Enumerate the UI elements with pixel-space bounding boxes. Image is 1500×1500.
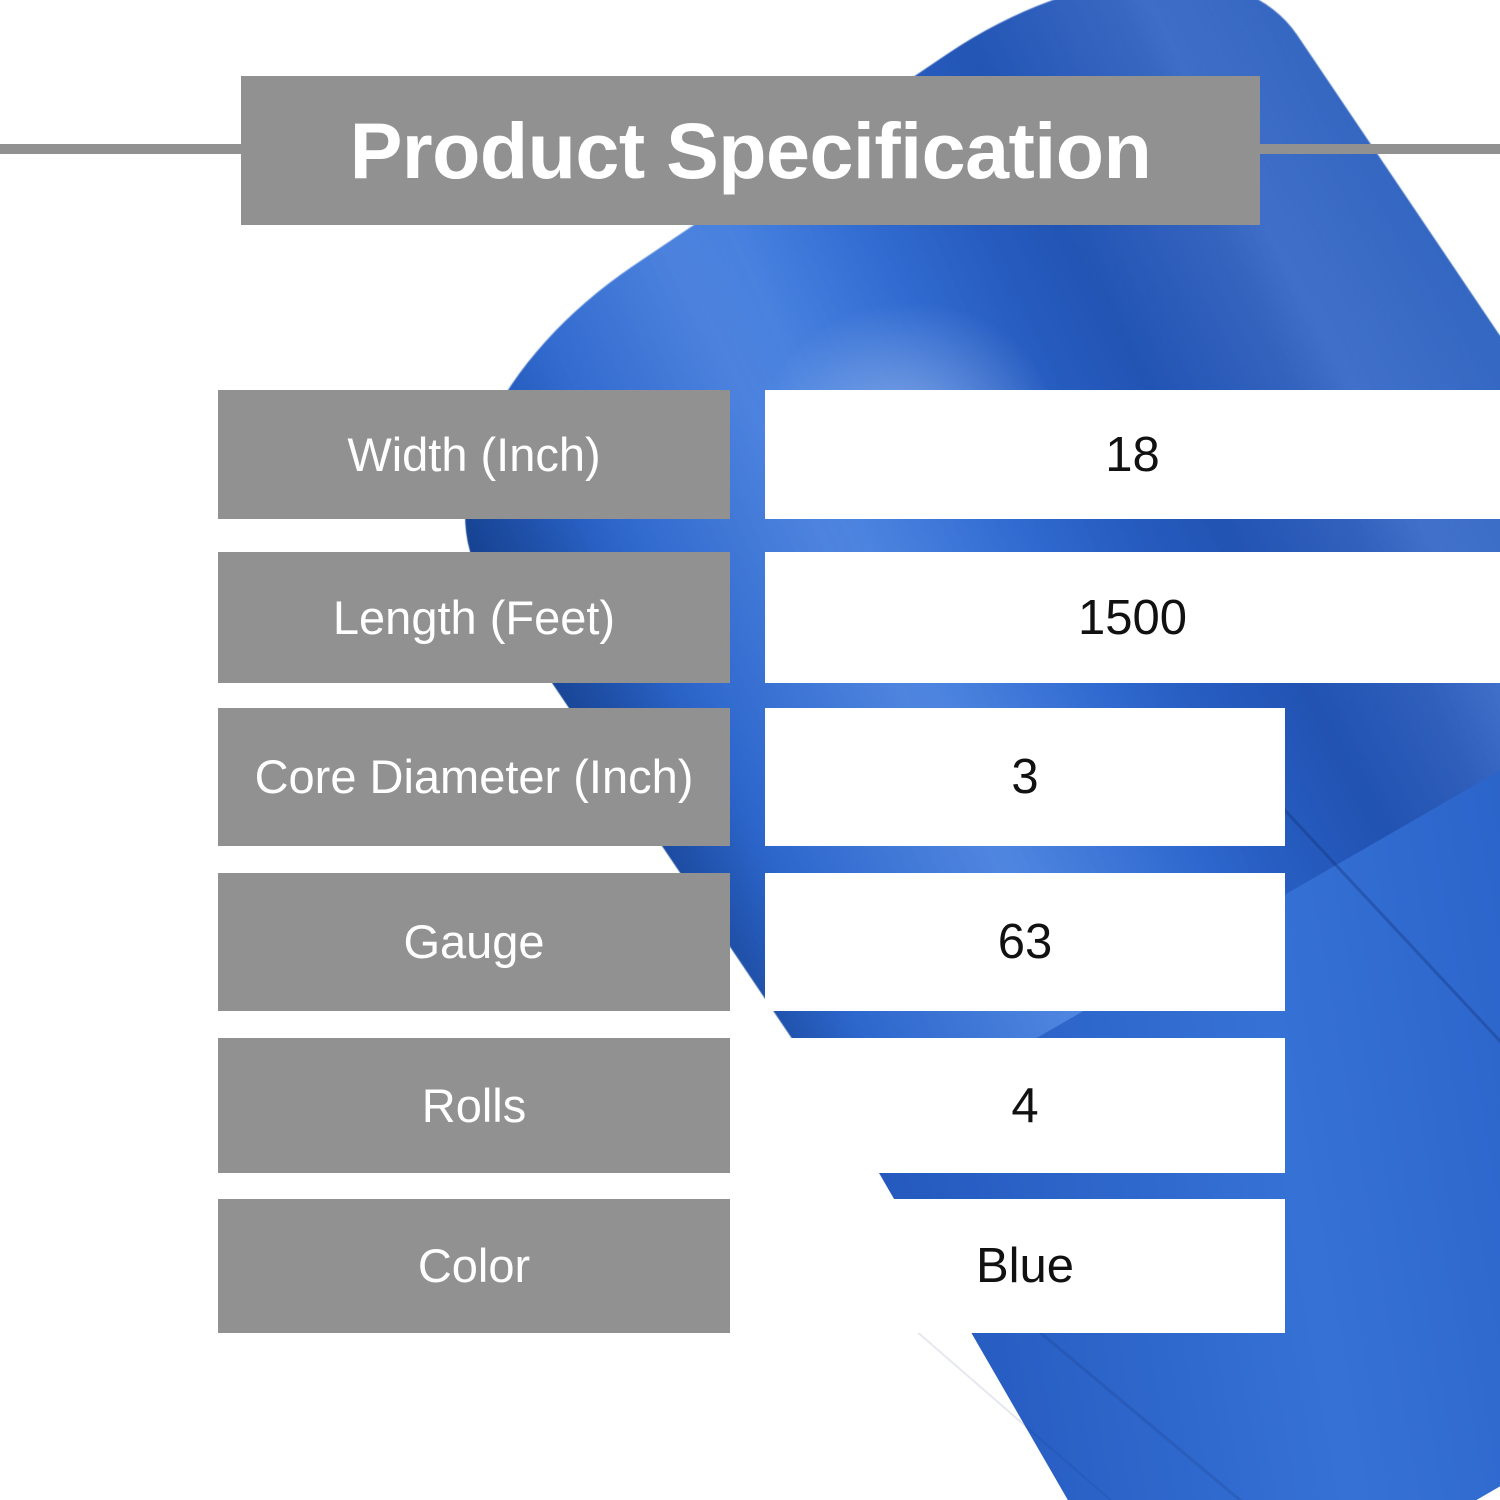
spec-label-gauge: Gauge	[218, 873, 730, 1011]
spec-value-color: Blue	[765, 1199, 1285, 1333]
spec-label-length: Length (Feet)	[218, 552, 730, 683]
spec-value-rolls: 4	[765, 1038, 1285, 1173]
product-specification-page: Product Specification Width (Inch) 18 Le…	[0, 0, 1500, 1500]
spec-label-core-diameter: Core Diameter (Inch)	[218, 708, 730, 846]
spec-value-core-diameter: 3	[765, 708, 1285, 846]
spec-label-color: Color	[218, 1199, 730, 1333]
spec-value-gauge: 63	[765, 873, 1285, 1011]
spec-value-width: 18	[765, 390, 1500, 519]
spec-label-rolls: Rolls	[218, 1038, 730, 1173]
spec-value-length: 1500	[765, 552, 1500, 683]
specification-table: Width (Inch) 18 Length (Feet) 1500 Core …	[0, 0, 1500, 1500]
spec-label-width: Width (Inch)	[218, 390, 730, 519]
